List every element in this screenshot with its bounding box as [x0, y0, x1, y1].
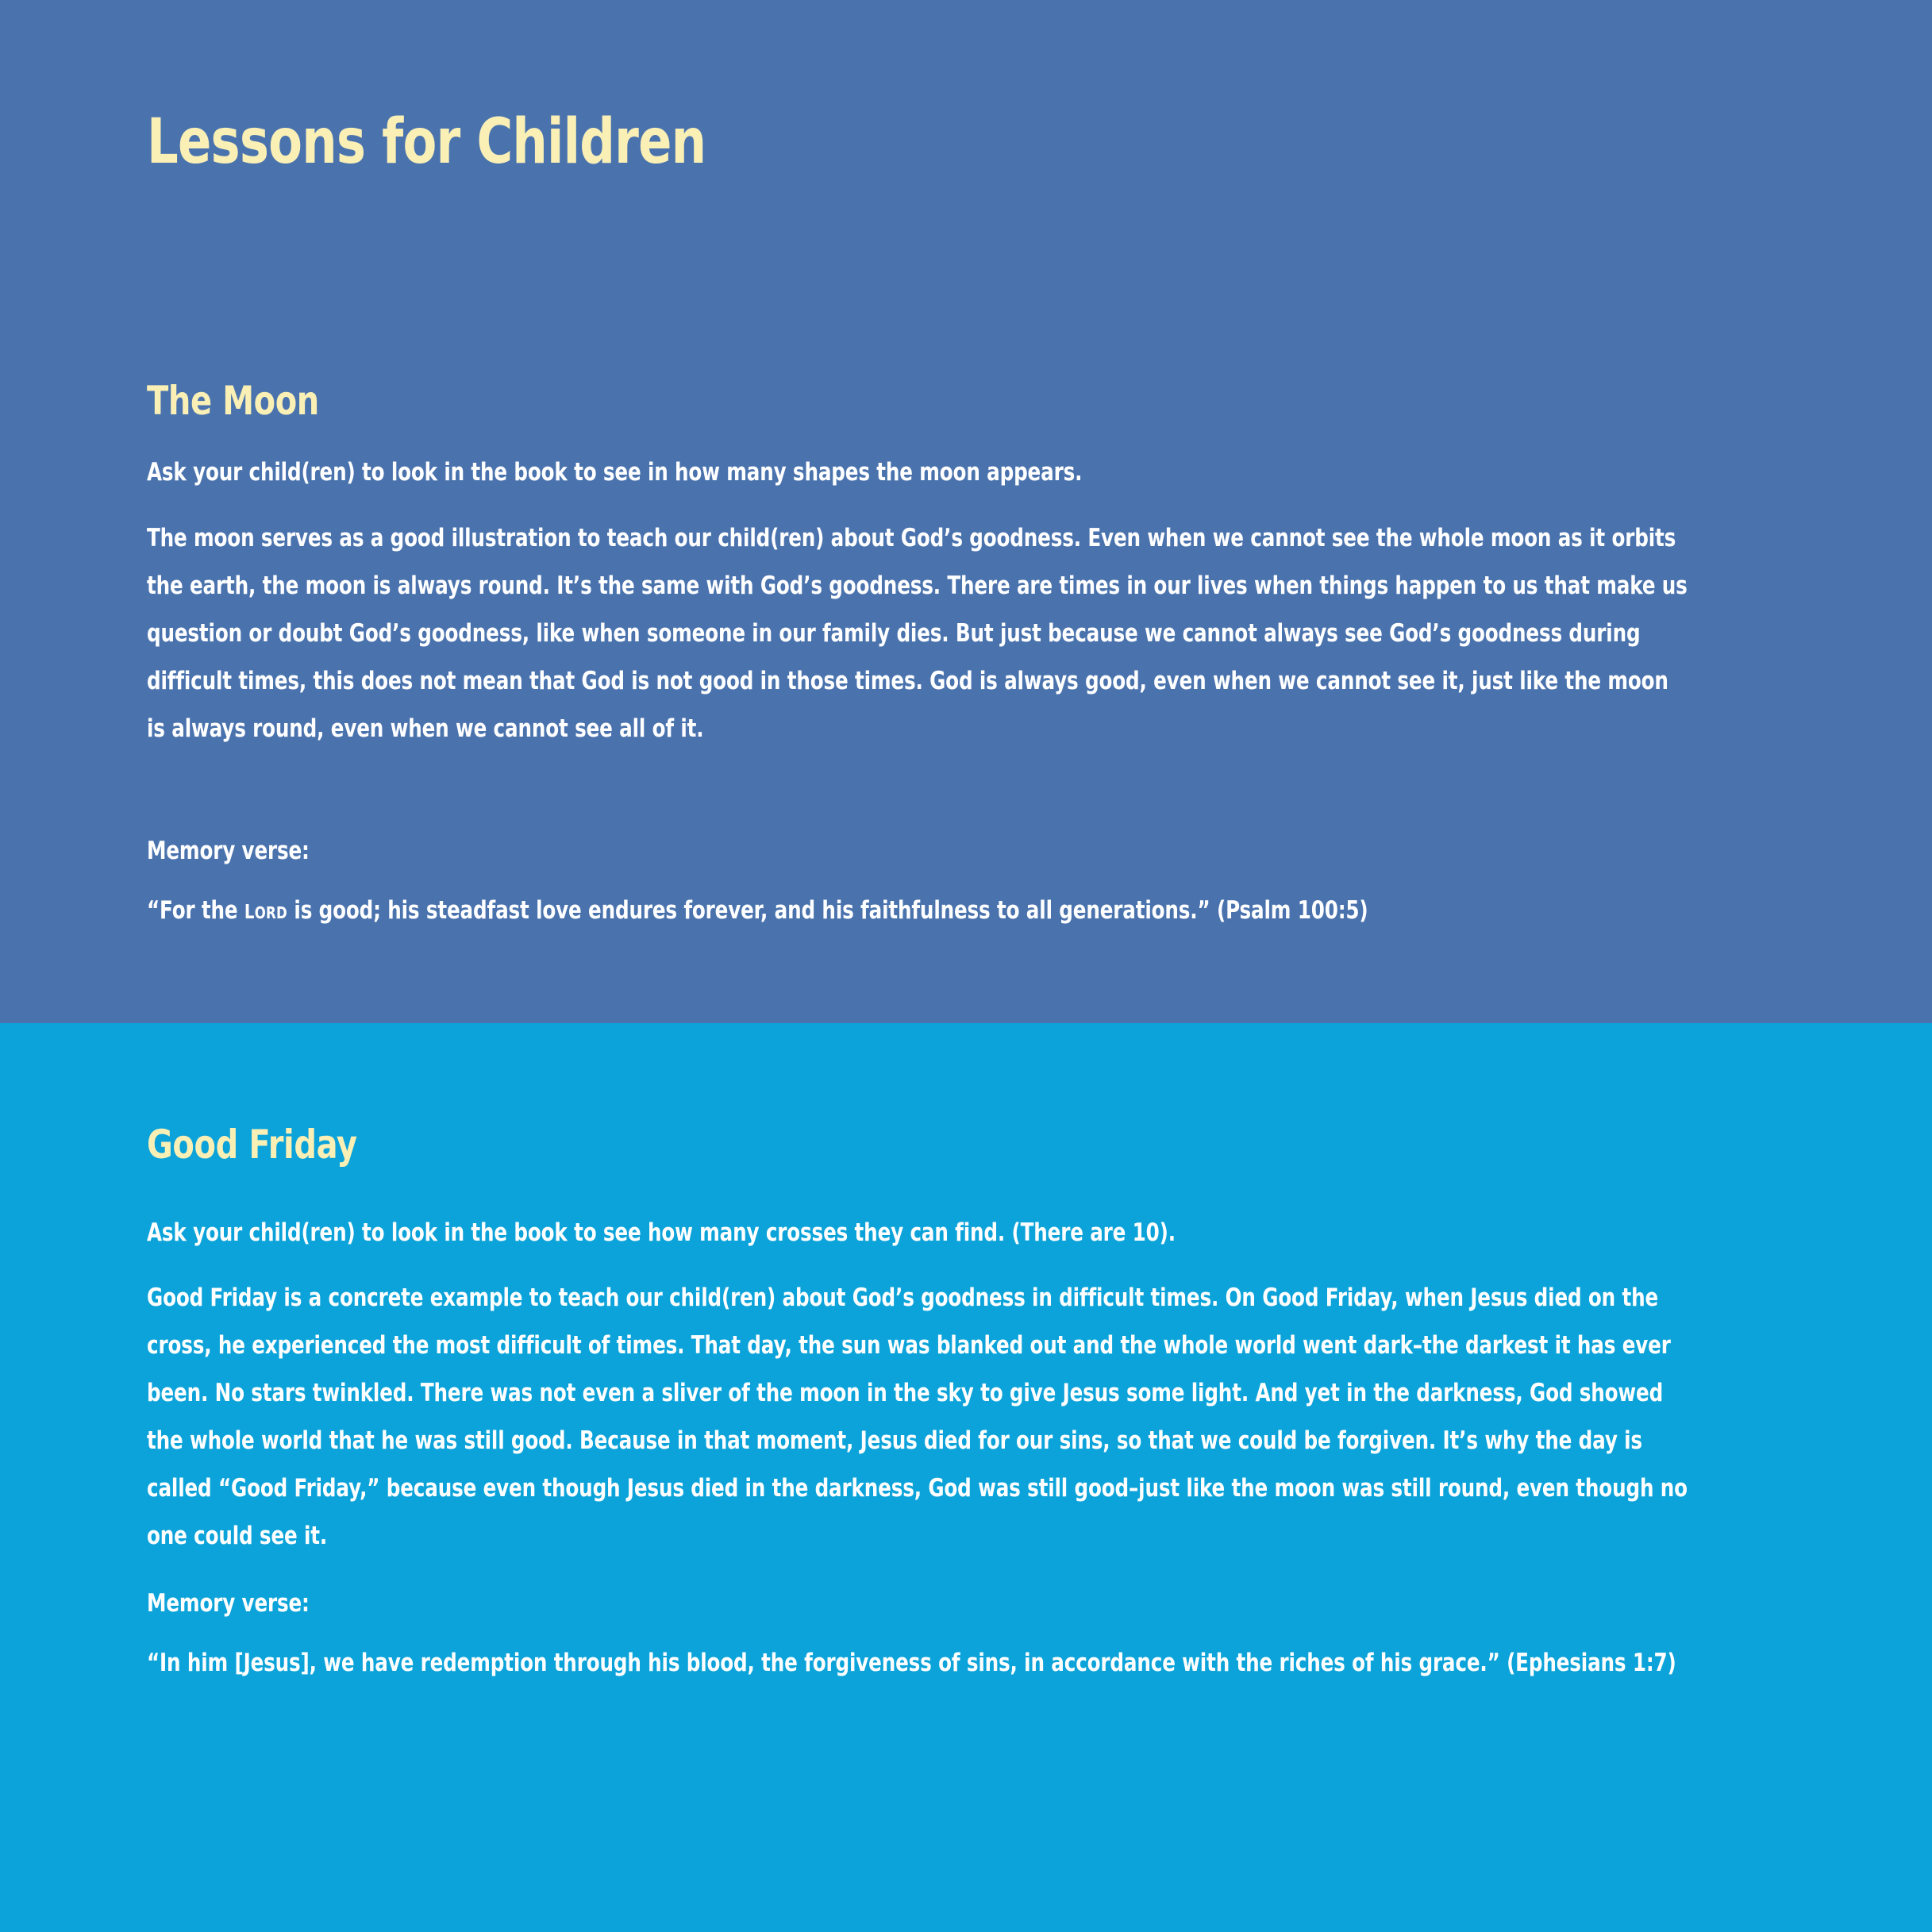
section-heading-the-moon-wrapper: The Moon: [147, 381, 1693, 421]
page-title: Lessons for Children: [147, 111, 1384, 173]
memory-verse-label-good-friday: Memory verse:: [147, 1580, 1693, 1627]
section-intro-the-moon-wrapper: Ask your child(ren) to look in the book …: [147, 448, 1693, 496]
page-root: Lessons for Children The Moon Ask your c…: [0, 0, 1932, 1932]
memory-verse-good-friday: “In him [Jesus], we have redemption thro…: [147, 1639, 1693, 1687]
memory-verse-rest: is good; his steadfast love endures fore…: [287, 896, 1368, 925]
section-body-the-moon-wrapper: The moon serves as a good illustration t…: [147, 514, 1693, 752]
memory-verse-label-good-friday-wrapper: Memory verse:: [147, 1580, 1693, 1627]
divine-name-smallcaps: LORD: [244, 900, 287, 923]
memory-verse-the-moon: “For the LORD is good; his steadfast lov…: [147, 887, 1693, 937]
section-body-good-friday-wrapper: Good Friday is a concrete example to tea…: [147, 1274, 1693, 1560]
section-intro-good-friday: Ask your child(ren) to look in the book …: [147, 1209, 1693, 1257]
section-intro-good-friday-wrapper: Ask your child(ren) to look in the book …: [147, 1209, 1693, 1257]
section-body-the-moon: The moon serves as a good illustration t…: [147, 514, 1693, 752]
section-heading-good-friday: Good Friday: [147, 1125, 1384, 1164]
section-body-good-friday: Good Friday is a concrete example to tea…: [147, 1274, 1693, 1560]
section-heading-the-moon: The Moon: [147, 381, 1384, 421]
section-intro-the-moon: Ask your child(ren) to look in the book …: [147, 448, 1693, 496]
memory-verse-open: “For the: [147, 896, 244, 925]
memory-verse-label-the-moon: Memory verse:: [147, 827, 1693, 875]
page-title-wrapper: Lessons for Children: [147, 111, 1693, 173]
memory-verse-the-moon-wrapper: “For the LORD is good; his steadfast lov…: [147, 887, 1693, 937]
memory-verse-good-friday-wrapper: “In him [Jesus], we have redemption thro…: [147, 1639, 1693, 1687]
section-heading-good-friday-wrapper: Good Friday: [147, 1125, 1693, 1164]
memory-verse-label-the-moon-wrapper: Memory verse:: [147, 827, 1693, 875]
